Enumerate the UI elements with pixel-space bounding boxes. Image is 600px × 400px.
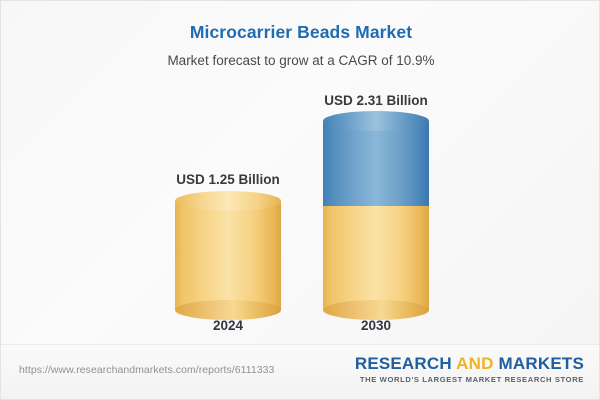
chart-plot-area: USD 1.25 Billion 2024 USD 2.31 Billion (1, 1, 600, 346)
logo-wordmark: RESEARCH AND MARKETS (355, 355, 584, 372)
market-infographic: Microcarrier Beads Market Market forecas… (0, 0, 600, 400)
x-tick-label-2030: 2030 (296, 318, 456, 333)
bar-segment-base-2024 (175, 201, 281, 310)
cylinder-bottom-cap (323, 300, 429, 320)
data-label-2030: USD 2.31 Billion (296, 93, 456, 108)
bar-cylinder-2024 (175, 201, 281, 310)
cylinder-bottom-cap (175, 300, 281, 320)
bar-group-2024: USD 1.25 Billion 2024 (148, 1, 308, 346)
cylinder-top-cap (175, 191, 281, 211)
source-url-link[interactable]: https://www.researchandmarkets.com/repor… (19, 364, 274, 376)
bar-cylinder-2030 (323, 121, 429, 310)
cylinder-top-cap (323, 111, 429, 131)
logo-word-research: RESEARCH (355, 354, 452, 373)
footer-bar: https://www.researchandmarkets.com/repor… (1, 344, 600, 399)
logo-tagline: THE WORLD'S LARGEST MARKET RESEARCH STOR… (355, 376, 584, 384)
x-tick-label-2024: 2024 (148, 318, 308, 333)
bar-segment-growth-2030 (323, 121, 429, 206)
logo-word-and: AND (456, 354, 493, 373)
research-and-markets-logo[interactable]: RESEARCH AND MARKETS THE WORLD'S LARGEST… (355, 355, 584, 384)
bar-segment-base-2030 (323, 206, 429, 310)
logo-word-markets: MARKETS (499, 354, 584, 373)
data-label-2024: USD 1.25 Billion (148, 172, 308, 187)
bar-group-2030: USD 2.31 Billion 2030 (296, 1, 456, 346)
